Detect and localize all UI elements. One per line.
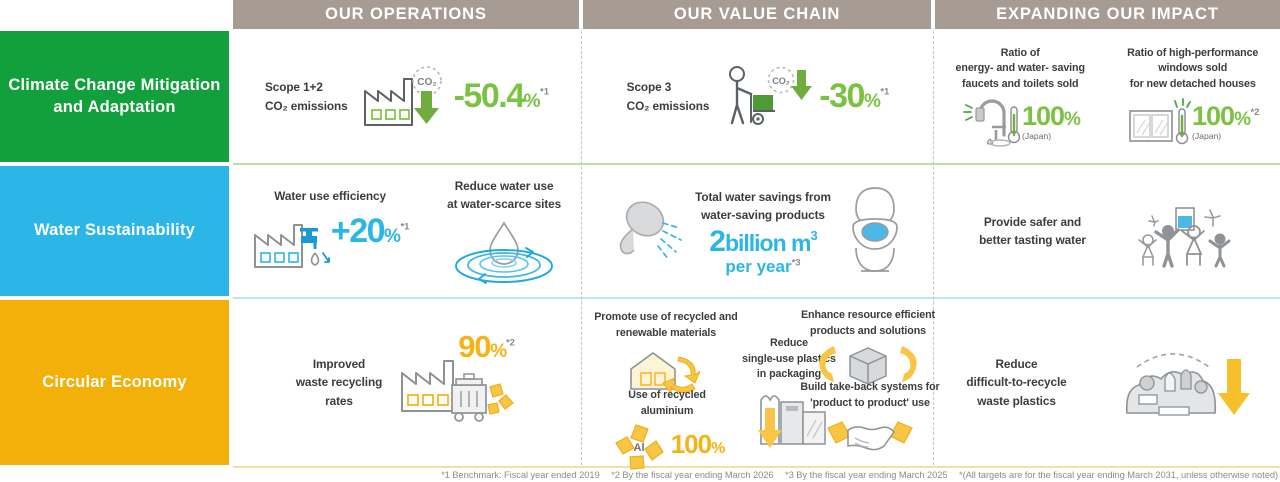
svg-text:CO₂: CO₂ — [417, 77, 436, 88]
circular-item-recycled-materials: Promote use of recycled and renewable ma… — [591, 310, 741, 400]
impact-windows-metric: 100 — [1192, 101, 1234, 131]
water-ops-efficiency-unit: % — [384, 226, 400, 247]
cell-circular-operations: Improved waste recycling rates — [233, 300, 581, 465]
circular-ops-metric: 90 — [458, 329, 490, 364]
climate-ops-caption-line2: CO₂ emissions — [265, 97, 348, 115]
water-ops-efficiency-metric: +20 — [331, 212, 384, 250]
window-thermometer-icon — [1126, 97, 1192, 147]
faucet-thermometer-icon — [960, 97, 1022, 147]
impact-faucets-metric-unit: % — [1064, 109, 1080, 130]
impact-item-faucets-toilets: Ratio of energy- and water- saving fauce… — [956, 46, 1085, 148]
water-droplet-ripple-icon — [445, 217, 563, 285]
water-ops-efficiency-caption: Water use efficiency — [274, 187, 386, 205]
climate-chain-footnote-ref: *1 — [880, 87, 889, 98]
circular-item-recycled-aluminium: Use of recycled aluminium Al 100% — [591, 388, 743, 469]
row-label-water-sustainability: Water Sustainability — [0, 166, 229, 296]
water-ops-item-scarce-sites: Reduce water use at water-scarce sites — [445, 177, 563, 286]
handshake-icon — [822, 414, 918, 454]
cell-circular-impact: Reduce difficult-to-recycle waste plasti… — [935, 300, 1280, 465]
circular-ops-caption: Improved waste recycling rates — [296, 355, 382, 410]
circular-aluminium-caption: Use of recycled aluminium — [591, 388, 743, 419]
climate-chain-caption-line1: Scope 3 — [627, 78, 710, 96]
row-water-sustainability: Water use efficiency — [233, 166, 1280, 296]
climate-ops-metric: -50.4 — [454, 77, 524, 115]
water-ops-scarce-caption: Reduce water use at water-scarce sites — [447, 177, 561, 214]
climate-chain-caption-line2: CO₂ emissions — [627, 97, 710, 115]
water-impact-caption: Provide safer and better tasting water — [979, 213, 1086, 250]
circular-ops-footnote-ref: *2 — [506, 337, 515, 348]
water-chain-footnote-ref: *3 — [792, 257, 801, 268]
sustainability-goals-matrix: OUR OPERATIONS OUR VALUE CHAIN EXPANDING… — [0, 0, 1280, 482]
climate-chain-metric-unit: % — [864, 91, 880, 112]
factory-faucet-icon — [251, 209, 343, 275]
water-chain-metric-number: 2 — [709, 225, 725, 258]
row-separator-green — [233, 163, 1280, 165]
column-header-row: OUR OPERATIONS OUR VALUE CHAIN EXPANDING… — [0, 0, 1280, 29]
svg-text:CO₂: CO₂ — [773, 76, 791, 86]
footnote-3: *3 By the fiscal year ending March 2025 — [785, 470, 947, 480]
circular-recycled-materials-caption: Promote use of recycled and renewable ma… — [591, 310, 741, 341]
cell-climate-operations: Scope 1+2 CO₂ emissions CO₂ -50. — [233, 31, 581, 162]
cell-circular-value-chain: Promote use of recycled and renewable ma… — [583, 300, 933, 465]
water-ops-efficiency-footnote-ref: *1 — [400, 221, 409, 232]
row-climate-change-mitigation: Scope 1+2 CO₂ emissions CO₂ -50. — [233, 31, 1280, 162]
aluminium-recycle-icon: Al — [610, 421, 668, 469]
water-chain-caption: Total water savings from water-saving pr… — [695, 188, 831, 225]
cell-climate-impact: Ratio of energy- and water- saving fauce… — [935, 31, 1280, 162]
water-chain-metric-word: billion m — [725, 230, 811, 256]
circular-takeback-caption: Build take-back systems for 'product to … — [795, 380, 945, 411]
impact-windows-metric-unit: % — [1234, 109, 1250, 130]
toilet-icon — [843, 185, 907, 277]
climate-chain-metric: -30 — [819, 77, 864, 115]
showerhead-icon — [609, 197, 685, 265]
impact-item-windows: Ratio of high-performance windows sold f… — [1126, 46, 1259, 148]
impact-windows-region: (Japan) — [1192, 131, 1221, 141]
row-label-climate-change-mitigation: Climate Change Mitigation and Adaptation — [0, 31, 229, 162]
climate-ops-caption-line1: Scope 1+2 — [265, 78, 348, 96]
impact-faucets-region: (Japan) — [1022, 131, 1051, 141]
circular-resource-efficient-caption: Enhance resource efficient products and … — [795, 308, 941, 339]
climate-ops-metric-unit: % — [524, 91, 540, 112]
column-header-our-value-chain: OUR VALUE CHAIN — [583, 0, 931, 29]
circular-impact-caption: Reduce difficult-to-recycle waste plasti… — [966, 355, 1066, 410]
cell-climate-value-chain: Scope 3 CO₂ emissions CO₂ — [583, 31, 933, 162]
water-chain-metric-exponent: 3 — [811, 228, 817, 243]
circular-item-take-back-systems: Build take-back systems for 'product to … — [795, 380, 945, 459]
people-water-glass-icon — [1132, 194, 1236, 268]
worker-cart-co2-down-icon: CO₂ — [723, 64, 809, 130]
row-separator-blue — [233, 297, 1280, 299]
impact-windows-footnote-ref: *2 — [1250, 107, 1259, 118]
impact-windows-caption: Ratio of high-performance windows sold f… — [1127, 46, 1258, 93]
impact-faucets-metric: 100 — [1022, 101, 1064, 131]
footnote-1: *1 Benchmark: Fiscal year ended 2019 — [441, 470, 599, 480]
row-circular-economy: Improved waste recycling rates — [233, 300, 1280, 465]
circular-ops-metric-unit: % — [490, 341, 506, 362]
cell-water-value-chain: Total water savings from water-saving pr… — [583, 166, 933, 296]
water-chain-metric-sub: per year — [725, 257, 791, 276]
column-header-our-operations: OUR OPERATIONS — [233, 0, 579, 29]
cell-water-operations: Water use efficiency — [233, 166, 581, 296]
row-label-circular-economy: Circular Economy — [0, 300, 229, 465]
circular-aluminium-metric-unit: % — [711, 440, 724, 457]
circular-aluminium-metric: 100 — [671, 429, 711, 459]
footnote-2: *2 By the fiscal year ending March 2026 — [611, 470, 773, 480]
footnote-general: *(All targets are for the fiscal year en… — [959, 470, 1278, 480]
waste-plastics-pile-down-icon — [1113, 343, 1249, 423]
column-header-expanding-our-impact: EXPANDING OUR IMPACT — [935, 0, 1280, 29]
water-ops-item-efficiency: Water use efficiency — [251, 187, 410, 275]
impact-faucets-caption: Ratio of energy- and water- saving fauce… — [956, 46, 1085, 93]
cell-water-impact: Provide safer and better tasting water — [935, 166, 1280, 296]
svg-text:Al: Al — [633, 442, 644, 454]
footnotes: *1 Benchmark: Fiscal year ended 2019 *2 … — [233, 468, 1280, 482]
factory-co2-down-icon: CO₂ — [361, 65, 447, 129]
circular-item-resource-efficient: Enhance resource efficient products and … — [795, 308, 941, 391]
climate-ops-footnote-ref: *1 — [540, 87, 549, 98]
